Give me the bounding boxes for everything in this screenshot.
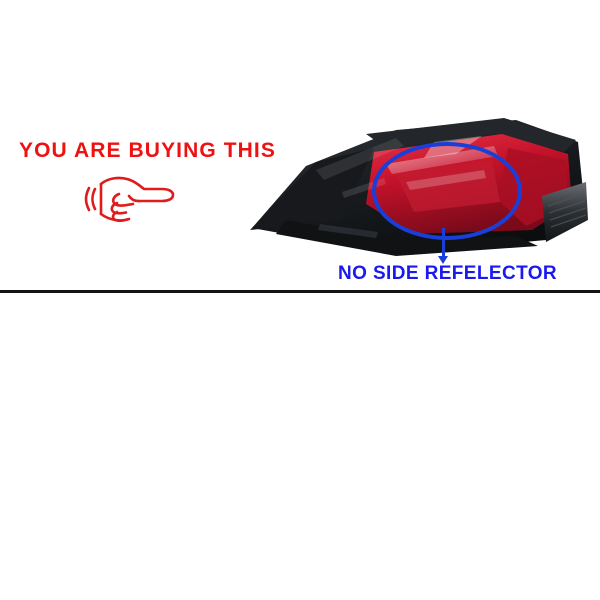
page-title: YOU ARE BUYING THIS: [19, 140, 276, 161]
ellipse-callout-icon: [372, 142, 522, 240]
panel-for-reference: Images are Intellectual Property of Ozep…: [0, 293, 600, 505]
leader-line: [442, 228, 445, 258]
panel-you-are-buying-this: YOU ARE BUYING THIS: [0, 0, 600, 291]
listing-image: YOU ARE BUYING THIS: [0, 0, 600, 600]
callout-label-no-side-reflector: NO SIDE REFELECTOR: [338, 264, 557, 283]
brand-footer: Images are Intellectual Property of Ozep…: [0, 505, 600, 600]
pointing-hand-right-icon: [84, 168, 180, 230]
